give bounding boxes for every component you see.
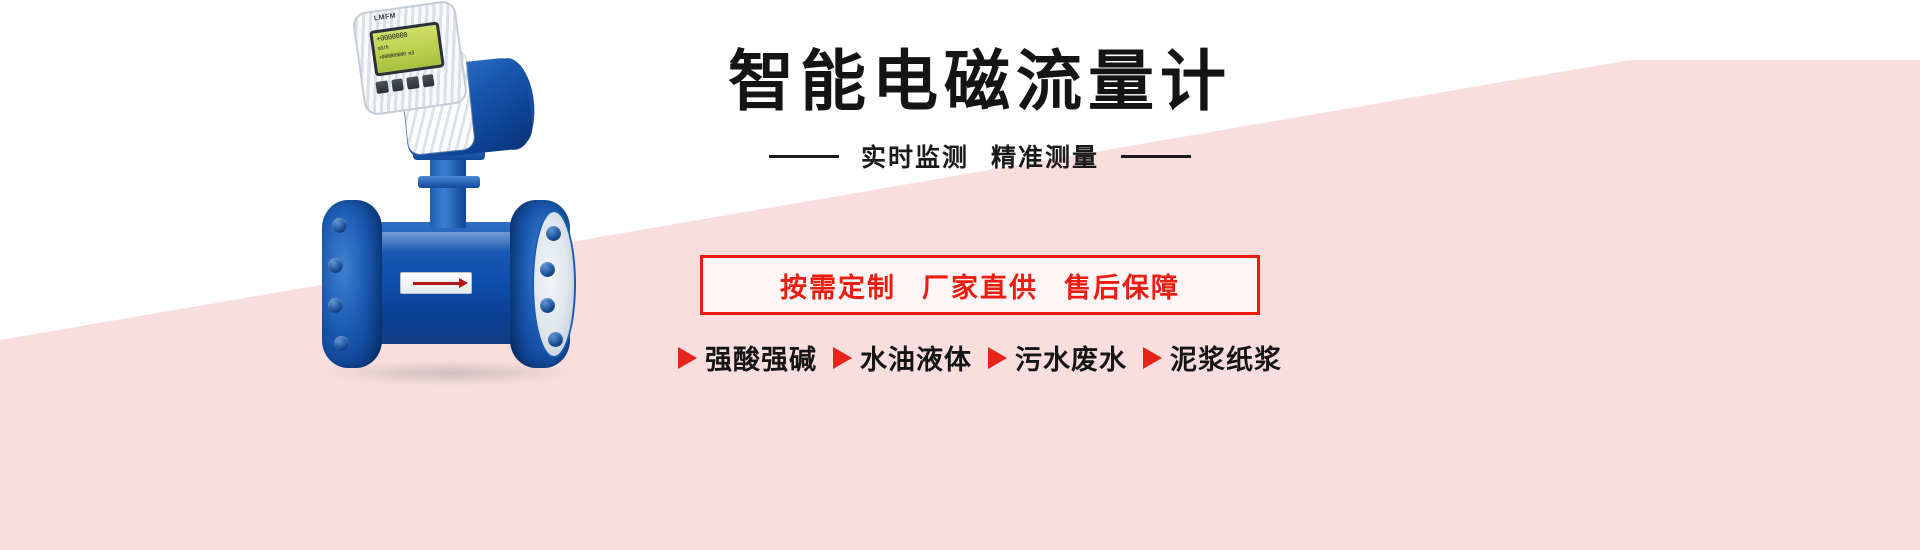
feature-item-0: 强酸强碱: [678, 338, 817, 377]
flange-bolt: [332, 218, 347, 233]
flow-arrow-icon: [413, 282, 459, 285]
triangle-right-icon: [833, 347, 852, 369]
flange-bolt: [334, 336, 349, 351]
triangle-right-icon: [988, 347, 1007, 369]
promo-box: 按需定制 厂家直供 售后保障: [700, 255, 1260, 315]
triangle-right-icon: [678, 347, 697, 369]
feature-list: 强酸强碱 水油液体 污水废水 泥浆纸浆: [600, 338, 1360, 377]
keypad-button[interactable]: [391, 78, 404, 91]
lcd-display: +0000000 m3/h +000000000 m3: [369, 21, 445, 76]
flange-bolt: [328, 298, 343, 313]
page-title: 智能电磁流量计: [670, 48, 1290, 114]
rule-right: [1121, 155, 1191, 158]
rule-left: [769, 155, 839, 158]
keypad-button[interactable]: [406, 76, 419, 89]
feature-label-3: 泥浆纸浆: [1170, 338, 1282, 377]
subtitle-row: 实时监测 精准测量: [670, 138, 1290, 174]
keypad-button[interactable]: [375, 80, 388, 93]
feature-label-2: 污水废水: [1015, 338, 1127, 377]
flange-bolt: [546, 226, 561, 241]
product-image-flowmeter: LMFM +0000000 m3/h +000000000 m3: [300, 0, 630, 420]
promo-item-2: 厂家直供: [922, 266, 1038, 305]
flowmeter-neck: [430, 152, 466, 228]
keypad-button[interactable]: [421, 74, 434, 87]
banner-text-column: 智能电磁流量计 实时监测 精准测量 按需定制 厂家直供 售后保障 强酸强碱 水油…: [600, 0, 1360, 550]
flange-bolt: [548, 332, 563, 347]
feature-label-1: 水油液体: [860, 338, 972, 377]
subtitle-right: 精准测量: [991, 138, 1099, 174]
flange-bolt: [328, 258, 343, 273]
flange-bolt: [540, 298, 555, 313]
triangle-right-icon: [1143, 347, 1162, 369]
flange-left: [322, 200, 382, 368]
product-banner: LMFM +0000000 m3/h +000000000 m3 智能电磁流量计…: [0, 0, 1920, 550]
feature-item-3: 泥浆纸浆: [1143, 338, 1282, 377]
flow-direction-plate: [400, 272, 472, 294]
neck-flange-lower: [418, 176, 480, 188]
feature-item-1: 水油液体: [833, 338, 972, 377]
feature-item-2: 污水废水: [988, 338, 1127, 377]
flange-bolt: [540, 262, 555, 277]
flange-face-right: [532, 210, 576, 358]
subtitle-left: 实时监测: [861, 138, 969, 174]
feature-label-0: 强酸强碱: [705, 338, 817, 377]
promo-item-3: 售后保障: [1064, 266, 1180, 305]
promo-item-1: 按需定制: [780, 266, 896, 305]
